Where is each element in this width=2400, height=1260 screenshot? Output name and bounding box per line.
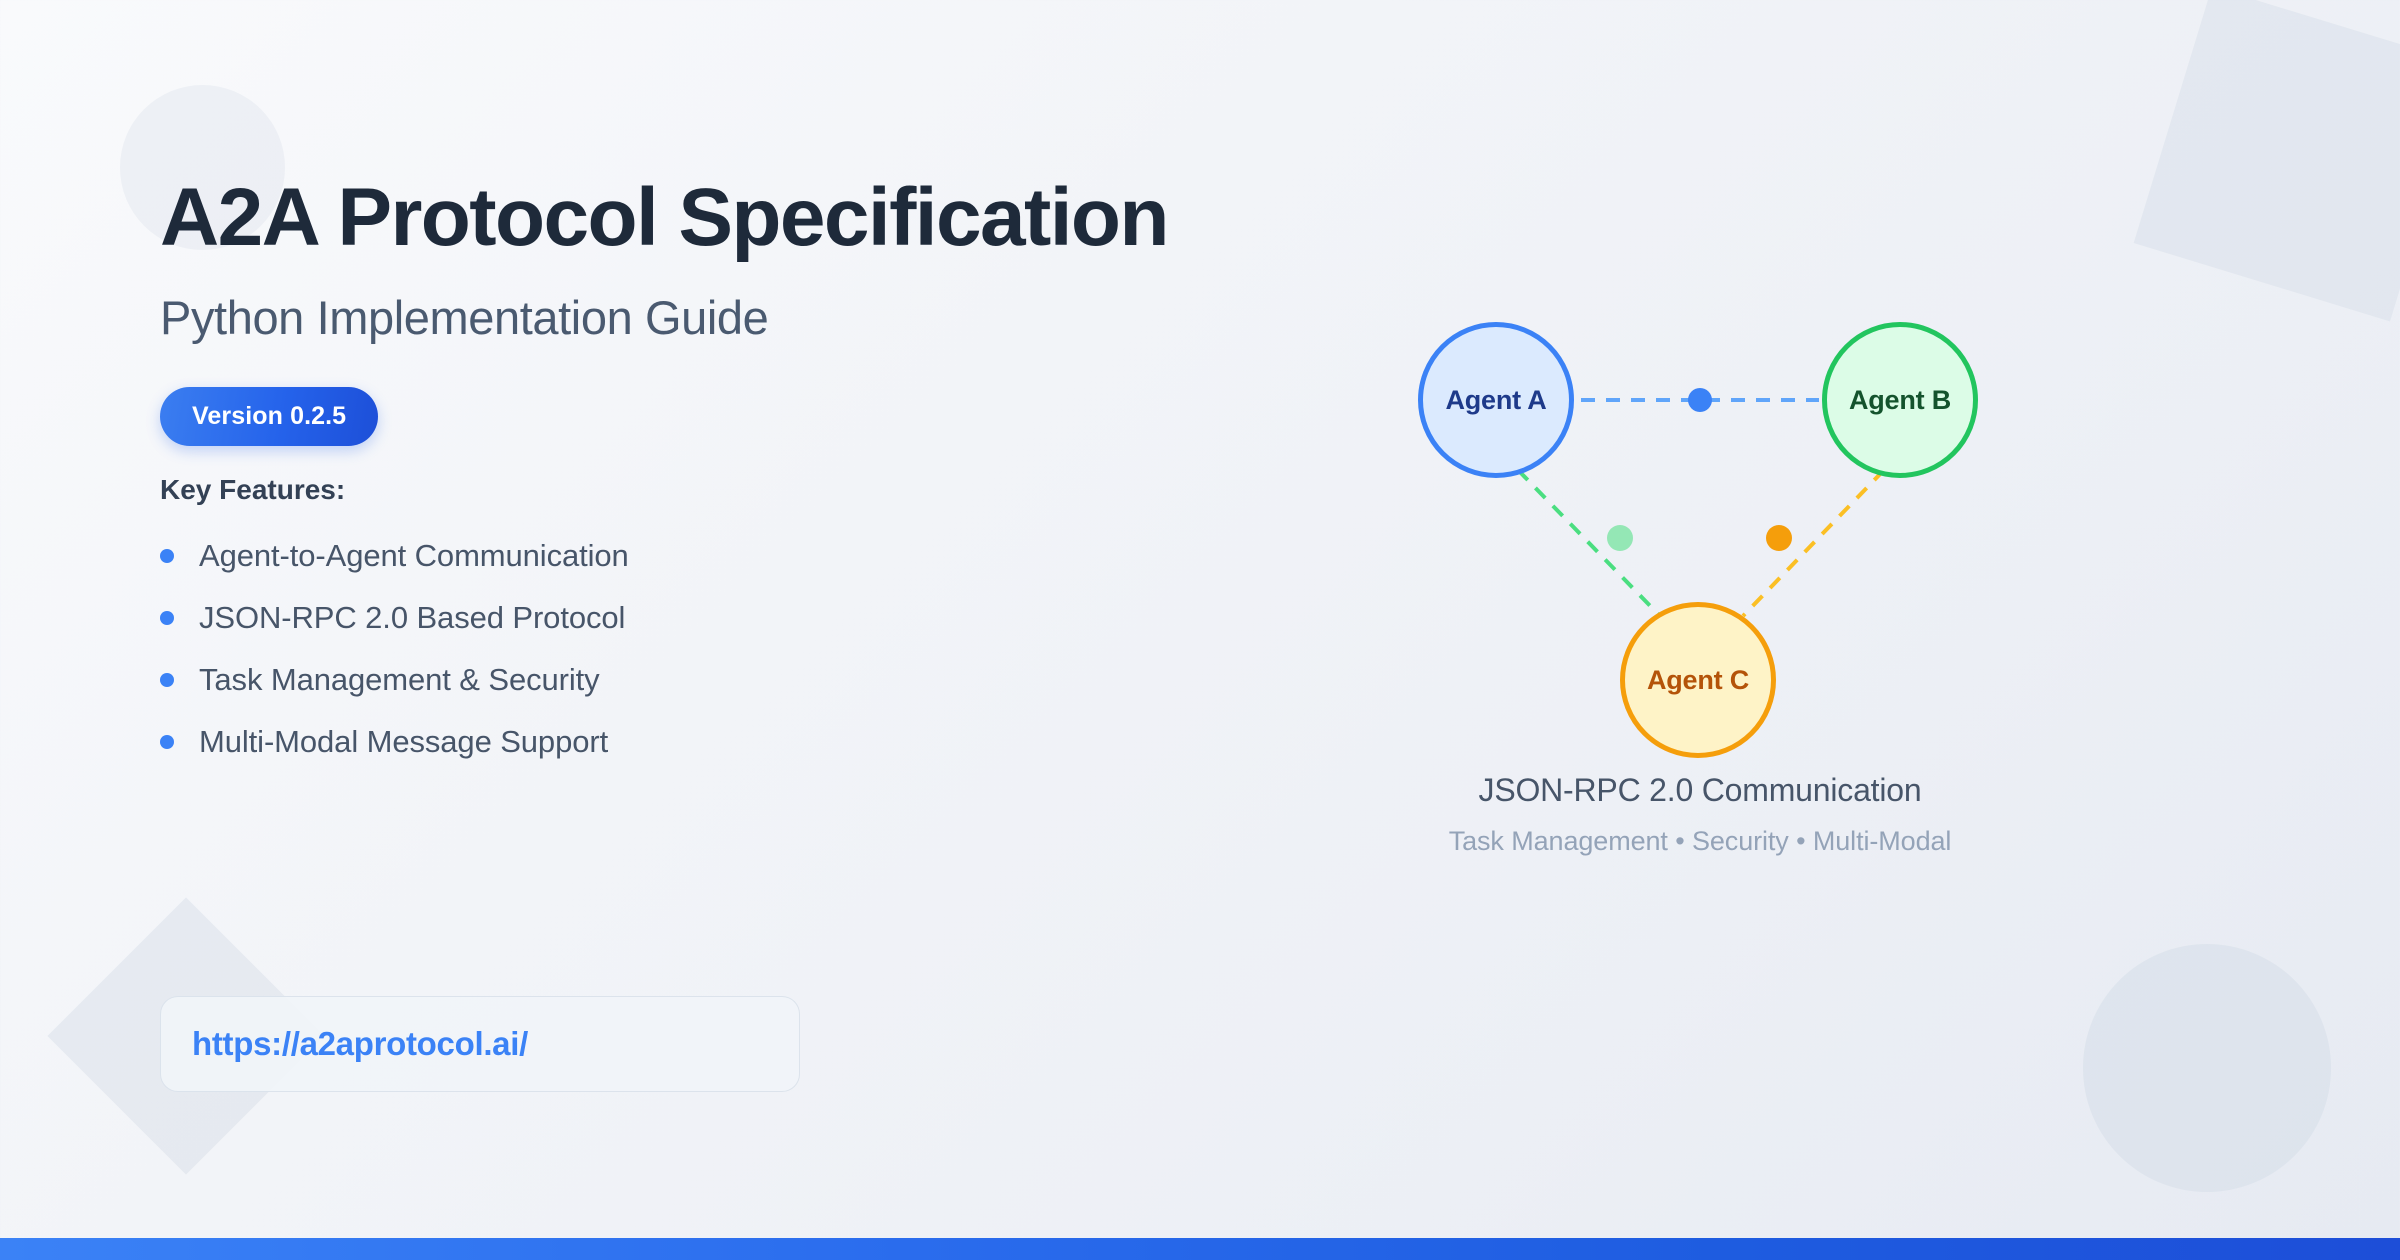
link-agent-a-agent-c: [1518, 470, 1660, 616]
link-marker-a-c: [1607, 525, 1633, 551]
diagram-caption-main: JSON-RPC 2.0 Communication: [1370, 772, 2030, 809]
hero-content: A2A Protocol Specification Python Implem…: [160, 176, 1340, 786]
decorative-square-top-right: [2134, 0, 2400, 321]
feature-label: Agent-to-Agent Communication: [199, 538, 629, 574]
version-badge: Version 0.2.5: [160, 387, 378, 446]
bullet-dot-icon: [160, 611, 174, 625]
list-item: Task Management & Security: [160, 662, 1340, 698]
feature-label: Task Management & Security: [199, 662, 600, 698]
agent-node-a-label: Agent A: [1445, 385, 1546, 416]
link-agent-b-agent-c: [1743, 470, 1884, 616]
agent-node-c-label: Agent C: [1647, 665, 1749, 696]
key-features-list: Agent-to-Agent Communication JSON-RPC 2.…: [160, 538, 1340, 760]
list-item: Multi-Modal Message Support: [160, 724, 1340, 760]
bullet-dot-icon: [160, 735, 174, 749]
agent-node-b-label: Agent B: [1849, 385, 1951, 416]
page-subtitle: Python Implementation Guide: [160, 292, 1340, 344]
poster-canvas: A2A Protocol Specification Python Implem…: [0, 0, 2400, 1260]
agent-node-c[interactable]: Agent C: [1620, 602, 1776, 758]
link-marker-a-b: [1688, 388, 1712, 412]
page-title: A2A Protocol Specification: [160, 176, 1340, 260]
bullet-dot-icon: [160, 549, 174, 563]
feature-label: JSON-RPC 2.0 Based Protocol: [199, 600, 625, 636]
bottom-accent-bar: [0, 1238, 2400, 1260]
link-marker-b-c: [1766, 525, 1792, 551]
url-link[interactable]: https://a2aprotocol.ai/: [192, 1025, 528, 1063]
diagram-caption-sub: Task Management • Security • Multi-Modal: [1370, 826, 2030, 857]
decorative-circle-bottom-right: [2083, 944, 2331, 1192]
bullet-dot-icon: [160, 673, 174, 687]
list-item: Agent-to-Agent Communication: [160, 538, 1340, 574]
agent-node-a[interactable]: Agent A: [1418, 322, 1574, 478]
agent-network-diagram: Agent A Agent B Agent C JSON-RPC 2.0 Com…: [1370, 280, 2030, 900]
key-features-label: Key Features:: [160, 474, 1340, 506]
agent-node-b[interactable]: Agent B: [1822, 322, 1978, 478]
url-box[interactable]: https://a2aprotocol.ai/: [160, 996, 800, 1092]
feature-label: Multi-Modal Message Support: [199, 724, 608, 760]
list-item: JSON-RPC 2.0 Based Protocol: [160, 600, 1340, 636]
